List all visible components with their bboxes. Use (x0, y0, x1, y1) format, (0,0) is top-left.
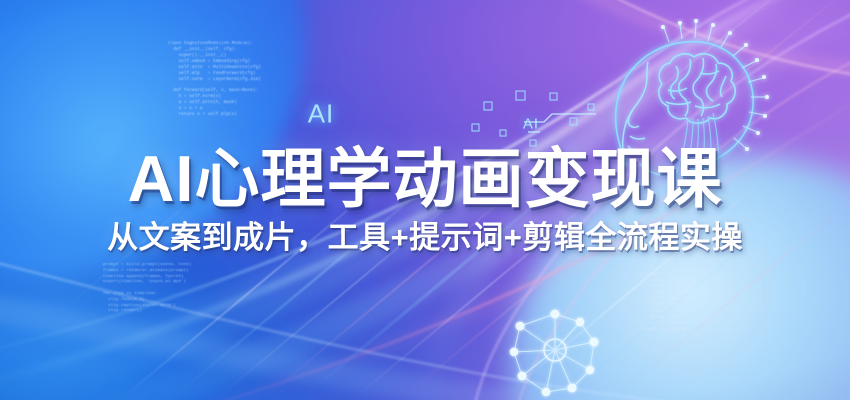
headline: AI心理学动画变现课 (0, 146, 850, 211)
subtitle: 从文案到成片，工具+提示词+剪辑全流程实操 (0, 222, 850, 253)
course-banner: class CognitiveModel(nn.Module): def __i… (0, 0, 850, 400)
ai-label-large: AI (308, 99, 335, 130)
node-network-icon (500, 300, 610, 400)
banner-subtitle: 从文案到成片，工具+提示词+剪辑全流程实操 (107, 222, 743, 253)
banner-title: AI心理学动画变现课 (127, 146, 722, 211)
